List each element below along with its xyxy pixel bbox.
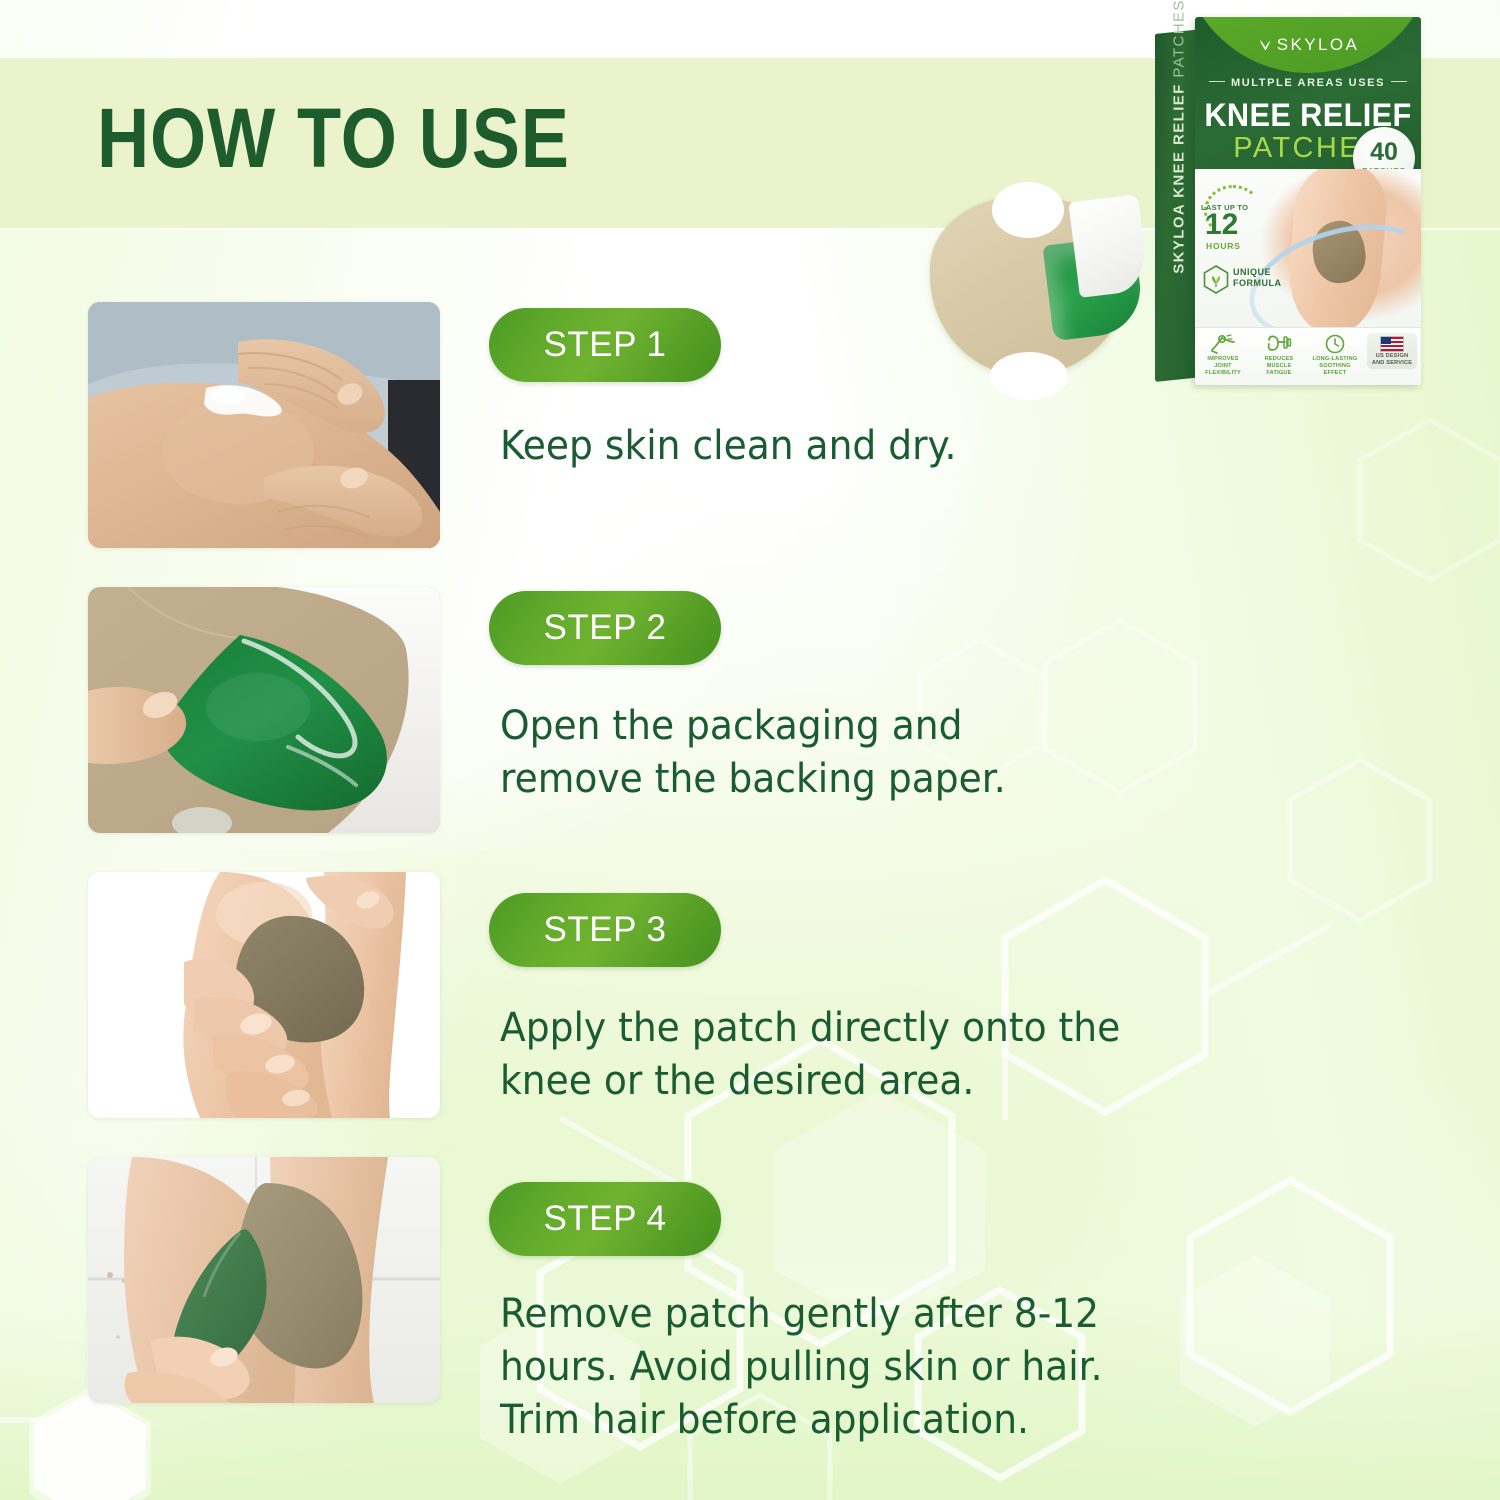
step-1-photo — [88, 302, 440, 548]
step-4-badge[interactable]: STEP 4 — [489, 1182, 721, 1256]
formula-line-1: UNIQUE — [1233, 267, 1282, 278]
patch-notch-bottom — [990, 352, 1068, 400]
step-2-photo — [88, 587, 440, 833]
step-1-badge[interactable]: STEP 1 — [489, 308, 721, 382]
feature-us-design: US DESIGN AND SERVICE — [1367, 333, 1417, 369]
step-1-text: Keep skin clean and dry. — [500, 420, 1177, 473]
side-title: KNEE RELIEF — [1171, 83, 1188, 198]
box-brand-text: SKYLOA — [1277, 35, 1359, 54]
unique-formula-hex-icon — [1203, 265, 1229, 294]
box-count-number: 40 — [1370, 140, 1398, 165]
feature-label-3: LONG-LASTING SOOTHING EFFECT — [1311, 356, 1359, 377]
product-box: SKYLOA KNEE RELIEF PATCHES SKYLOA MULTPL… — [1155, 12, 1423, 384]
step-2-text: Open the packaging and remove the backin… — [500, 700, 1196, 806]
kicker-dash-left — [1209, 81, 1225, 82]
feature-label-4: US DESIGN AND SERVICE — [1369, 353, 1415, 367]
photo-applying-cream-to-knee — [88, 302, 440, 548]
box-hero-photo: LAST UP TO 12 HOURS UNIQUE FORMULA — [1195, 169, 1421, 327]
photo-peeling-backing-paper — [88, 587, 440, 833]
step-3-photo — [88, 872, 440, 1118]
feature-muscle-fatigue: REDUCES MUSCLE FATIGUE — [1255, 333, 1303, 377]
clock-icon — [1311, 333, 1359, 355]
product-box-front-panel: SKYLOA MULTPLE AREAS USES KNEE RELIEF PA… — [1195, 17, 1421, 385]
joint-flexibility-icon — [1199, 333, 1247, 355]
box-kicker-text: MULTPLE AREAS USES — [1231, 77, 1385, 89]
step-1-badge-label: STEP 1 — [544, 325, 667, 365]
box-unique-formula-text: UNIQUE FORMULA — [1233, 267, 1282, 290]
photo-patch-applied-to-knee — [88, 872, 440, 1118]
infographic-canvas: HOW TO USE — [0, 0, 1500, 1500]
box-brand-lockup: SKYLOA — [1195, 35, 1421, 55]
box-duration-number: 12 — [1205, 210, 1238, 240]
us-flag-icon — [1380, 336, 1404, 352]
photo-removing-patch-from-knee — [88, 1157, 440, 1403]
feature-label-1: IMPROVES JOINT FLEXIBILITY — [1199, 356, 1247, 377]
product-box-side-text: SKYLOA KNEE RELIEF PATCHES — [1171, 0, 1188, 287]
kicker-dash-right — [1391, 81, 1407, 82]
step-4-photo — [88, 1157, 440, 1403]
patch-notch-top — [992, 182, 1064, 238]
feature-soothing-effect: LONG-LASTING SOOTHING EFFECT — [1311, 333, 1359, 377]
formula-line-2: FORMULA — [1233, 278, 1282, 289]
side-brand: SKYLOA — [1171, 203, 1188, 273]
box-kicker: MULTPLE AREAS USES — [1195, 77, 1421, 89]
step-4-badge-label: STEP 4 — [544, 1199, 667, 1239]
step-3-badge[interactable]: STEP 3 — [489, 893, 721, 967]
step-3-badge-label: STEP 3 — [544, 910, 667, 950]
step-3-text: Apply the patch directly onto the knee o… — [500, 1002, 1252, 1108]
feature-joint-flexibility: IMPROVES JOINT FLEXIBILITY — [1199, 333, 1247, 377]
step-4-text: Remove patch gently after 8-12 hours. Av… — [500, 1288, 1243, 1446]
feature-label-2: REDUCES MUSCLE FATIGUE — [1255, 356, 1303, 377]
step-2-badge[interactable]: STEP 2 — [489, 591, 721, 665]
step-2-badge-label: STEP 2 — [544, 608, 667, 648]
side-sub: PATCHES — [1171, 0, 1188, 78]
box-duration-unit: HOURS — [1206, 241, 1241, 251]
box-feature-row: IMPROVES JOINT FLEXIBILITY REDUCES MUSCL… — [1195, 327, 1421, 385]
loose-patch-product-image — [930, 188, 1142, 384]
flag-canton — [1381, 337, 1391, 344]
skyloa-bird-icon — [1257, 37, 1273, 53]
muscle-arm-icon — [1255, 333, 1303, 355]
